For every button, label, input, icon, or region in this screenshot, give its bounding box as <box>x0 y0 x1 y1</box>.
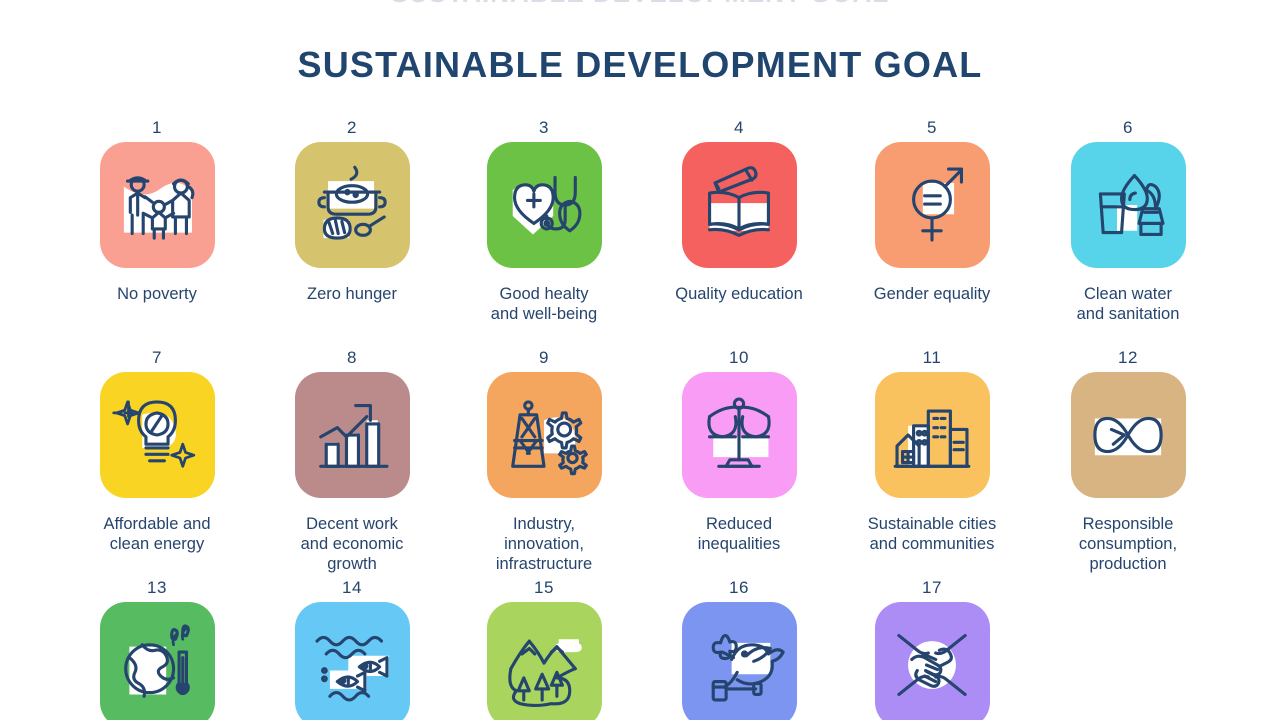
goal-number: 17 <box>922 578 942 598</box>
goal-label: Good healty and well-being <box>454 284 634 324</box>
goal-card-4[interactable]: 4Quality education <box>659 118 819 304</box>
goal-card-1[interactable]: 1No poverty <box>77 118 237 304</box>
goal-card-6[interactable]: 6Clean water and sanitation <box>1048 118 1208 324</box>
goal-tile-15[interactable] <box>487 602 602 720</box>
goal-number: 8 <box>347 348 357 368</box>
goal-label: Clean water and sanitation <box>1038 284 1218 324</box>
dove-gavel-icon <box>693 619 785 711</box>
mountains-trees-icon <box>498 619 590 711</box>
goal-tile-4[interactable] <box>682 142 797 268</box>
goal-card-9[interactable]: 9Industry, innovation, infrastructure <box>464 348 624 574</box>
sdg-poster: SUSTAINABLE DEVELOPMENT GOAL SUSTAINABLE… <box>0 0 1280 720</box>
globe-thermometer-icon <box>111 619 203 711</box>
goal-tile-10[interactable] <box>682 372 797 498</box>
goal-card-12[interactable]: 12Responsible consumption, production <box>1048 348 1208 574</box>
goal-number: 5 <box>927 118 937 138</box>
goals-row-3: 1314151617 <box>0 578 1280 720</box>
goal-number: 9 <box>539 348 549 368</box>
goal-tile-17[interactable] <box>875 602 990 720</box>
water-glass-droplet-toilet-icon <box>1082 159 1174 251</box>
goal-card-3[interactable]: 3Good healty and well-being <box>464 118 624 324</box>
page-title: SUSTAINABLE DEVELOPMENT GOAL <box>0 44 1280 86</box>
goal-tile-5[interactable] <box>875 142 990 268</box>
balance-scales-icon <box>693 389 785 481</box>
goals-grid: 1No poverty2Zero hunger3Good healty and … <box>0 118 1280 720</box>
goal-label: Gender equality <box>842 284 1022 304</box>
goal-number: 6 <box>1123 118 1133 138</box>
goal-number: 14 <box>342 578 362 598</box>
goal-tile-11[interactable] <box>875 372 990 498</box>
goal-tile-1[interactable] <box>100 142 215 268</box>
goal-tile-7[interactable] <box>100 372 215 498</box>
heart-stethoscope-icon <box>498 159 590 251</box>
city-buildings-icon <box>886 389 978 481</box>
goal-card-10[interactable]: 10Reduced inequalities <box>659 348 819 554</box>
goal-number: 4 <box>734 118 744 138</box>
goal-tile-13[interactable] <box>100 602 215 720</box>
goal-card-15[interactable]: 15 <box>464 578 624 720</box>
goal-number: 7 <box>152 348 162 368</box>
tower-gears-icon <box>498 389 590 481</box>
joined-hands-icon <box>886 619 978 711</box>
goal-label: Responsible consumption, production <box>1038 514 1218 574</box>
lightbulb-leaf-icon <box>111 389 203 481</box>
goal-number: 16 <box>729 578 749 598</box>
goal-tile-16[interactable] <box>682 602 797 720</box>
goal-number: 11 <box>923 348 942 368</box>
goal-card-7[interactable]: 7Affordable and clean energy <box>77 348 237 554</box>
goals-row-1: 1No poverty2Zero hunger3Good healty and … <box>0 118 1280 348</box>
goal-card-2[interactable]: 2Zero hunger <box>272 118 432 304</box>
goal-tile-6[interactable] <box>1071 142 1186 268</box>
goal-number: 13 <box>147 578 167 598</box>
goal-tile-9[interactable] <box>487 372 602 498</box>
cooking-pot-bread-spoon-icon <box>306 159 398 251</box>
goal-card-13[interactable]: 13 <box>77 578 237 720</box>
goal-label: No poverty <box>67 284 247 304</box>
goal-number: 3 <box>539 118 549 138</box>
infinity-recycle-icon <box>1082 389 1174 481</box>
goal-label: Industry, innovation, infrastructure <box>454 514 634 574</box>
goal-tile-14[interactable] <box>295 602 410 720</box>
goal-number: 12 <box>1118 348 1138 368</box>
goal-number: 15 <box>534 578 554 598</box>
goal-label: Affordable and clean energy <box>67 514 247 554</box>
goal-card-5[interactable]: 5Gender equality <box>852 118 1012 304</box>
goal-card-17[interactable]: 17 <box>852 578 1012 720</box>
goal-card-14[interactable]: 14 <box>272 578 432 720</box>
goal-tile-8[interactable] <box>295 372 410 498</box>
gender-equality-icon <box>886 159 978 251</box>
fish-waves-icon <box>306 619 398 711</box>
goal-label: Quality education <box>649 284 829 304</box>
goal-number: 2 <box>347 118 357 138</box>
goal-number: 10 <box>729 348 749 368</box>
bar-chart-growth-arrow-icon <box>306 389 398 481</box>
goals-row-2: 7Affordable and clean energy8Decent work… <box>0 348 1280 578</box>
goal-tile-3[interactable] <box>487 142 602 268</box>
goal-number: 1 <box>152 118 162 138</box>
goal-label: Sustainable cities and communities <box>842 514 1022 554</box>
goal-card-8[interactable]: 8Decent work and economic growth <box>272 348 432 574</box>
goal-card-16[interactable]: 16 <box>659 578 819 720</box>
goal-label: Decent work and economic growth <box>262 514 442 574</box>
open-book-pen-icon <box>693 159 785 251</box>
goal-tile-2[interactable] <box>295 142 410 268</box>
clipped-header-text: SUSTAINABLE DEVELOPMENT GOAL <box>0 0 1280 4</box>
goal-tile-12[interactable] <box>1071 372 1186 498</box>
goal-label: Reduced inequalities <box>649 514 829 554</box>
goal-card-11[interactable]: 11Sustainable cities and communities <box>852 348 1012 554</box>
goal-label: Zero hunger <box>262 284 442 304</box>
family-icon <box>111 159 203 251</box>
